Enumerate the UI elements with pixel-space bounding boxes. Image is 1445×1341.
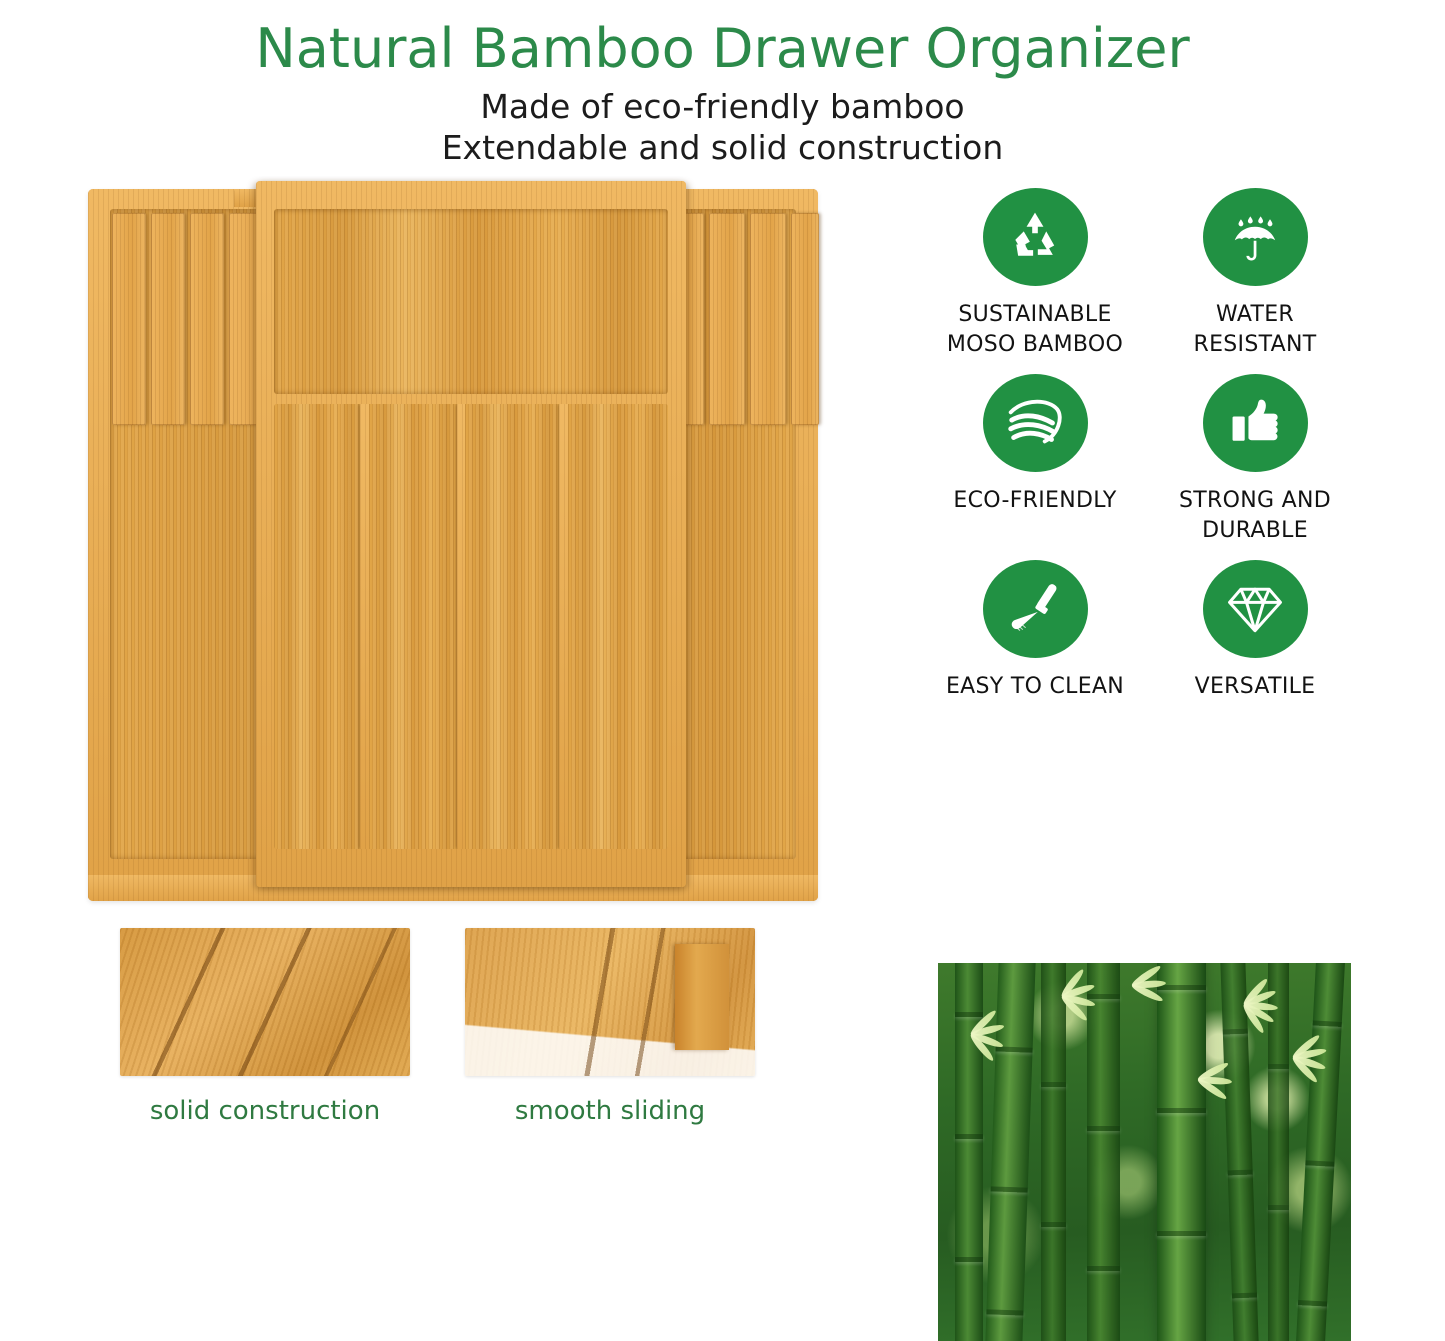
feature-label-line-1: VERSATILE (1150, 672, 1360, 702)
knife-slot (791, 213, 819, 425)
content-stage: solid construction smooth sliding (0, 168, 1445, 1203)
bamboo-culm (984, 963, 1036, 1341)
compartment-divider (360, 404, 369, 849)
cutlery-compartment (274, 404, 360, 849)
solid-construction-photo (120, 928, 410, 1076)
bamboo-culm (955, 963, 984, 1341)
feature-sustainable-moso-bamboo: SUSTAINABLE MOSO BAMBOO (930, 188, 1140, 360)
header: Natural Bamboo Drawer Organizer Made of … (0, 0, 1445, 168)
feature-grid: SUSTAINABLE MOSO BAMBOO WATER RESI (930, 188, 1360, 702)
bamboo-culm (1157, 963, 1207, 1341)
feature-label-line-1: ECO-FRIENDLY (930, 486, 1140, 516)
thumbs-up-icon (1203, 374, 1308, 472)
feature-strong-and-durable: STRONG AND DURABLE (1150, 374, 1360, 546)
knife-slot (151, 213, 185, 425)
cutlery-compartment (568, 404, 668, 849)
feature-eco-friendly: ECO-FRIENDLY (930, 374, 1140, 546)
feature-easy-to-clean: EASY TO CLEAN (930, 560, 1140, 702)
feature-water-resistant: WATER RESISTANT (1150, 188, 1360, 360)
broom-icon (983, 560, 1088, 658)
subtitle: Made of eco-friendly bamboo Extendable a… (0, 86, 1445, 168)
solid-construction-caption: solid construction (120, 1096, 410, 1126)
cutlery-compartment (369, 404, 457, 849)
slide-rail-post (675, 944, 729, 1050)
product-hero-image (88, 181, 818, 906)
knife-slot (112, 213, 146, 425)
compartment-divider (457, 404, 466, 849)
diamond-icon (1203, 560, 1308, 658)
knife-slot (190, 213, 224, 425)
detail-smooth-sliding: smooth sliding (465, 928, 755, 1178)
subtitle-line-2: Extendable and solid construction (0, 127, 1445, 168)
feature-label-line-1: EASY TO CLEAN (930, 672, 1140, 702)
smooth-sliding-photo (465, 928, 755, 1076)
bamboo-culm (1041, 963, 1066, 1341)
umbrella-icon (1203, 188, 1308, 286)
smooth-sliding-caption: smooth sliding (465, 1096, 755, 1126)
bamboo-forest-photo (938, 963, 1351, 1341)
compartment-divider (559, 404, 568, 849)
detail-solid-construction: solid construction (120, 928, 410, 1178)
inner-sliding-tray (256, 181, 686, 887)
subtitle-line-1: Made of eco-friendly bamboo (0, 86, 1445, 127)
feature-versatile: VERSATILE (1150, 560, 1360, 702)
feature-label-line-2: DURABLE (1150, 516, 1360, 546)
knife-slot (750, 213, 786, 425)
inner-tray-large-compartment (274, 209, 668, 394)
feature-label-line-1: SUSTAINABLE (930, 300, 1140, 330)
feature-label-line-2: MOSO BAMBOO (930, 330, 1140, 360)
cutlery-compartment (465, 404, 559, 849)
bamboo-culm (1294, 963, 1346, 1341)
knife-slot-bank-right (668, 213, 794, 425)
page-title: Natural Bamboo Drawer Organizer (0, 18, 1445, 80)
bamboo-culm (1087, 963, 1120, 1341)
feature-label-line-1: STRONG AND (1150, 486, 1360, 516)
feature-label-line-2: RESISTANT (1150, 330, 1360, 360)
leaf-wave-icon (983, 374, 1088, 472)
recycle-icon (983, 188, 1088, 286)
cutlery-compartments (274, 404, 668, 849)
feature-label-line-1: WATER (1150, 300, 1360, 330)
knife-slot (709, 213, 745, 425)
detail-shot-row: solid construction smooth sliding (120, 928, 820, 1178)
